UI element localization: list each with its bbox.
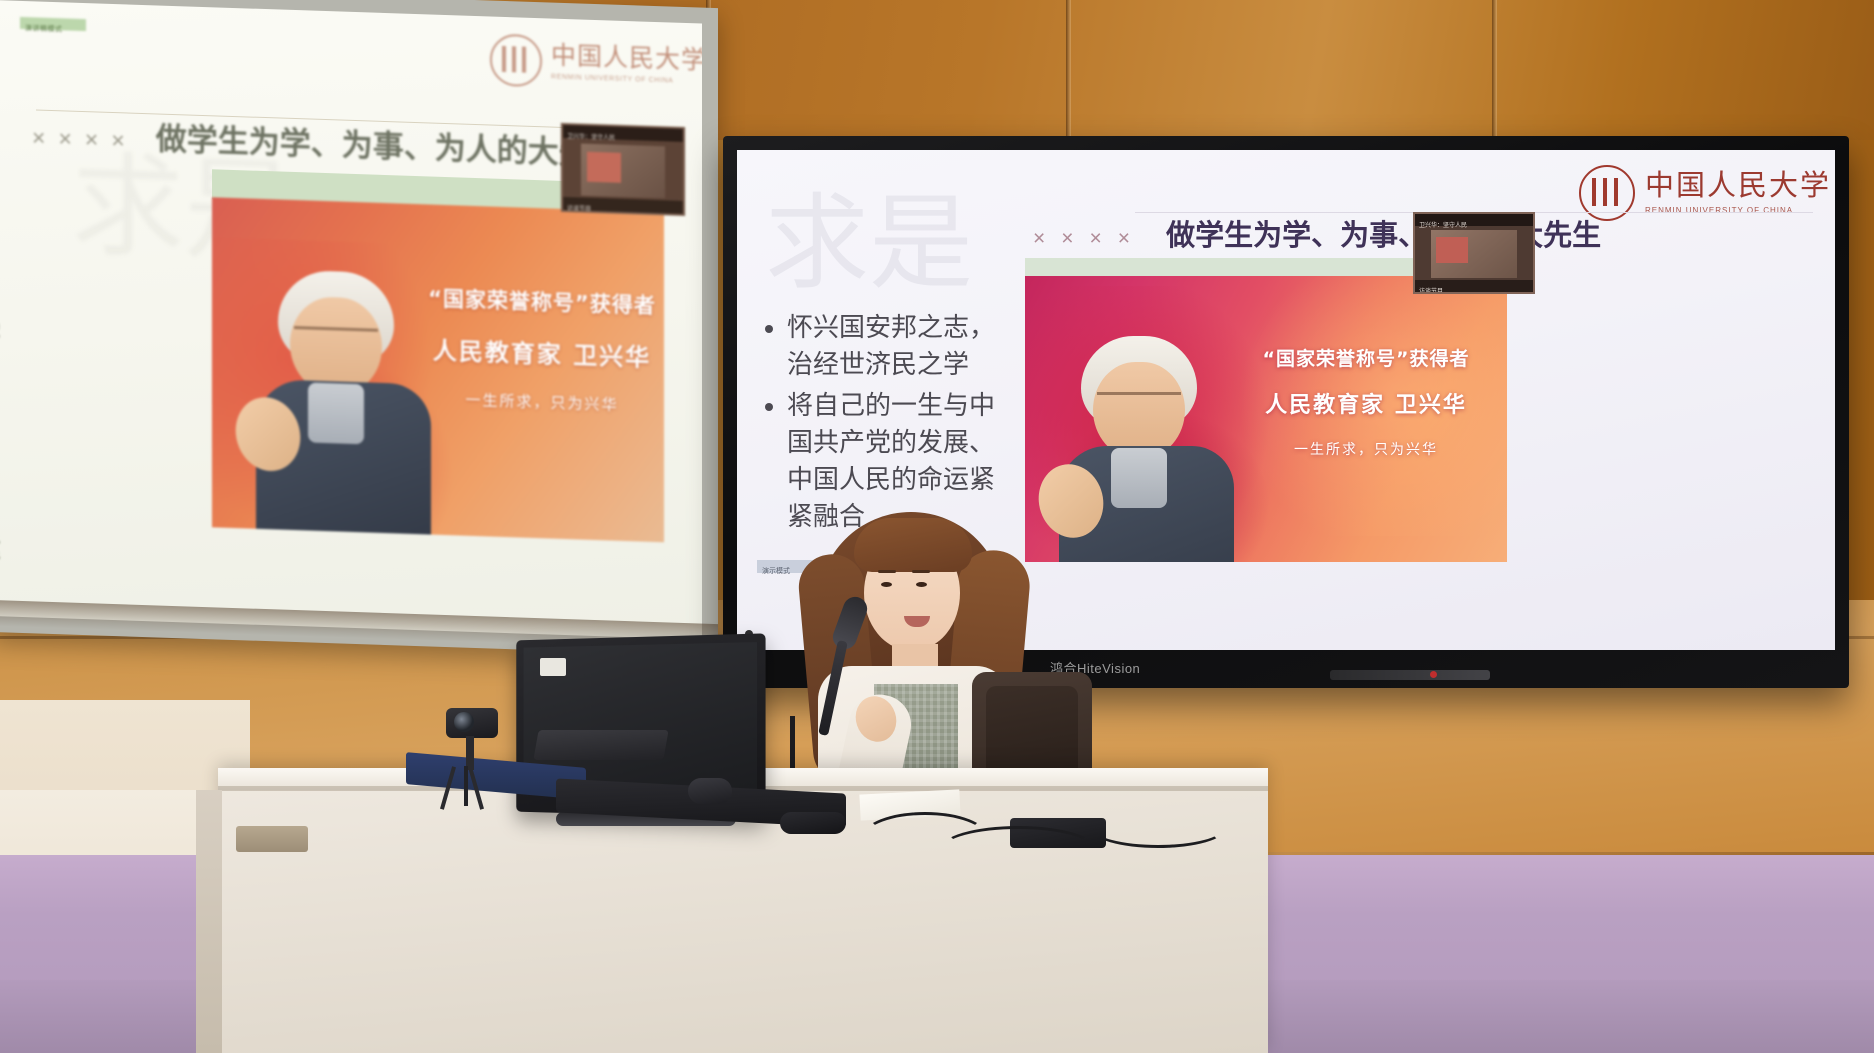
photo-caption-line2: 人民教育家 卫兴华 bbox=[422, 330, 662, 373]
bullet-line: 国共产党的发展、 bbox=[0, 434, 8, 527]
tv-pip-top-label: 卫兴华：坚守人民 bbox=[1419, 223, 1467, 229]
wall-seam bbox=[1066, 0, 1071, 150]
monitor-asset-tag bbox=[540, 658, 566, 676]
pip-bottom-bar: 访谈节目 bbox=[563, 197, 683, 214]
photo-caption: “国家荣誉称号”获得者 人民教育家 卫兴华 一生所求，只为兴华 bbox=[422, 282, 662, 416]
tv-photo-portrait bbox=[1045, 336, 1255, 562]
camera-lens-icon bbox=[454, 712, 474, 732]
tv-photo-caption-line2: 人民教育家 卫兴华 bbox=[1241, 387, 1491, 419]
tv-bullet-line: 治经世济民之学 bbox=[787, 347, 1021, 384]
podium-nameplate bbox=[236, 826, 308, 852]
portrait-glasses-icon bbox=[294, 326, 378, 347]
tv-pip-inner-screen bbox=[1436, 237, 1468, 263]
tv-bullet-item: 怀兴国安邦之志， 治经世济民之学 bbox=[787, 310, 1021, 384]
camera-stem bbox=[466, 736, 474, 770]
tv-photo-caption-line1: “国家荣誉称号”获得者 bbox=[1241, 344, 1491, 371]
projection-screen-surface: 求是 演讲稿模式 中国人民大学 RENMIN UNIVERSITY OF CHI… bbox=[0, 0, 702, 639]
scene-root: 求是 演讲稿模式 中国人民大学 RENMIN UNIVERSITY OF CHI… bbox=[0, 0, 1874, 1053]
mouse[interactable] bbox=[688, 778, 732, 804]
tv-slide-watermark: 求是 bbox=[765, 196, 973, 292]
bullet-line: 将自己的一生与中 bbox=[0, 348, 8, 441]
tv-indicator-icon bbox=[1430, 671, 1437, 678]
tv-slide-corner-badge-label: 演示模式 bbox=[762, 568, 790, 575]
cable-loop bbox=[940, 826, 1096, 872]
tv-slide-photo: “国家荣誉称号”获得者 人民教育家 卫兴华 一生所求，只为兴华 bbox=[1025, 276, 1507, 562]
tv-portrait-face bbox=[1093, 362, 1185, 458]
speaker-brow-left bbox=[878, 570, 896, 573]
tv-photo-caption: “国家荣誉称号”获得者 人民教育家 卫兴华 一生所求，只为兴华 bbox=[1241, 344, 1491, 459]
tv-slide-picture-in-picture: 卫兴华：坚守人民 访谈节目 bbox=[1413, 212, 1535, 294]
tv-university-name-en: RENMIN UNIVERSITY OF CHINA bbox=[1645, 207, 1831, 215]
tv-slide-xmarks: ×××× bbox=[1033, 227, 1146, 251]
pip-top-bar: 卫兴华：坚守人民 bbox=[563, 125, 683, 142]
slide-bullet-text: 怀兴国安邦之志， 治经世济民之学 将自己的一生与中 国共产党的发展、 中国人民的… bbox=[0, 220, 8, 640]
tv-pip-room-image bbox=[1431, 230, 1517, 278]
keyboard-tray[interactable] bbox=[533, 730, 668, 760]
desk-device[interactable] bbox=[780, 812, 846, 834]
tv-portrait-glasses-icon bbox=[1097, 392, 1181, 410]
tripod-leg bbox=[464, 766, 468, 806]
tv-control-bar[interactable] bbox=[1330, 670, 1490, 680]
speaker-fringe bbox=[854, 518, 972, 572]
pip-top-label: 卫兴华：坚守人民 bbox=[567, 134, 615, 142]
photo-portrait bbox=[242, 268, 452, 535]
tv-university-logo: 中国人民大学 RENMIN UNIVERSITY OF CHINA bbox=[1579, 162, 1809, 224]
bullet-line: 怀兴国安邦之志， bbox=[0, 220, 8, 313]
slide-corner-badge-label: 演讲稿模式 bbox=[25, 25, 63, 33]
pip-inner-screen bbox=[587, 152, 621, 183]
tv-photo-caption-line3: 一生所求，只为兴华 bbox=[1241, 439, 1491, 459]
speaker-eye-right bbox=[916, 582, 927, 587]
tv-university-name-cn: 中国人民大学 bbox=[1645, 172, 1831, 201]
university-name-cn: 中国人民大学 bbox=[551, 43, 702, 73]
slide-corner-badge: 演讲稿模式 bbox=[20, 17, 86, 31]
tv-portrait-shirt bbox=[1111, 448, 1167, 508]
bullet-line: 中国人民的命运紧 bbox=[0, 520, 8, 613]
university-seal-icon bbox=[490, 34, 542, 88]
university-logo: 中国人民大学 RENMIN UNIVERSITY OF CHINA bbox=[490, 31, 680, 95]
tv-pip-top-bar: 卫兴华：坚守人民 bbox=[1415, 214, 1533, 226]
wall-seam bbox=[1492, 0, 1497, 150]
tv-pip-bottom-label: 访谈节目 bbox=[1419, 289, 1443, 294]
university-name-en: RENMIN UNIVERSITY OF CHINA bbox=[551, 73, 702, 85]
projection-screen-frame: 求是 演讲稿模式 中国人民大学 RENMIN UNIVERSITY OF CHI… bbox=[0, 0, 718, 656]
pip-bottom-label: 访谈节目 bbox=[567, 206, 591, 213]
speaker-eye-left bbox=[881, 582, 892, 587]
slide-xmarks: ×××× bbox=[32, 124, 138, 155]
tv-bullet-line: 怀兴国安邦之志， bbox=[787, 310, 1021, 347]
tv-bullet-line: 国共产党的发展、 bbox=[787, 425, 1021, 462]
slide-photo: “国家荣誉称号”获得者 人民教育家 卫兴华 一生所求，只为兴华 bbox=[212, 197, 664, 542]
pip-room-image bbox=[581, 144, 665, 199]
tv-pip-bottom-bar: 访谈节目 bbox=[1415, 280, 1533, 292]
tv-bullet-line: 中国人民的命运紧 bbox=[787, 462, 1021, 499]
podium-left-side bbox=[196, 790, 222, 1053]
tv-bullet-line: 将自己的一生与中 bbox=[787, 388, 1021, 425]
portrait-shirt bbox=[308, 382, 364, 444]
slide-picture-in-picture: 卫兴华：坚守人民 访谈节目 bbox=[561, 123, 685, 216]
bullet-line: 治经世济民之学 bbox=[0, 305, 8, 355]
tv-slide-heading: 做学生为学、为事、为人的大先生 bbox=[1166, 212, 1601, 254]
photo-caption-line1: “国家荣誉称号”获得者 bbox=[422, 282, 662, 320]
cable-loop bbox=[1090, 808, 1226, 848]
speaker-brow-right bbox=[912, 570, 930, 573]
